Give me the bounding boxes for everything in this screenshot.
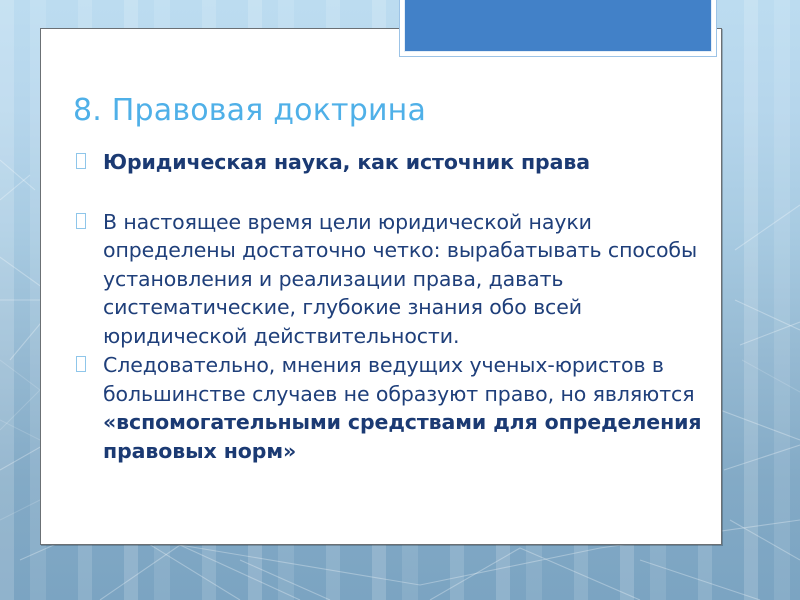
header-decoration-rect-inner xyxy=(404,0,712,52)
header-decoration-rect xyxy=(399,0,717,57)
list-item: Следовательно, мнения ведущих ученых-юри… xyxy=(73,351,703,465)
list-item: Юридическая наука, как источник права xyxy=(73,148,703,177)
hollow-square-bullet-icon xyxy=(76,356,86,372)
slide-body: Юридическая наука, как источник права В … xyxy=(73,148,703,465)
slide: 8. Правовая доктрина Юридическая наука, … xyxy=(0,0,800,600)
list-item: В настоящее время цели юридической науки… xyxy=(73,208,703,351)
list-item-label: Юридическая наука, как источник права xyxy=(103,150,590,174)
list-item-label: Следовательно, мнения ведущих ученых-юри… xyxy=(103,353,694,406)
page-title: 8. Правовая доктрина xyxy=(73,92,693,130)
list-item-label: В настоящее время цели юридической науки… xyxy=(103,210,697,348)
hollow-square-bullet-icon xyxy=(76,213,86,229)
hollow-square-bullet-icon xyxy=(76,153,86,169)
list-item-label-emphasis: «вспомогательными средствами для определ… xyxy=(103,410,701,463)
